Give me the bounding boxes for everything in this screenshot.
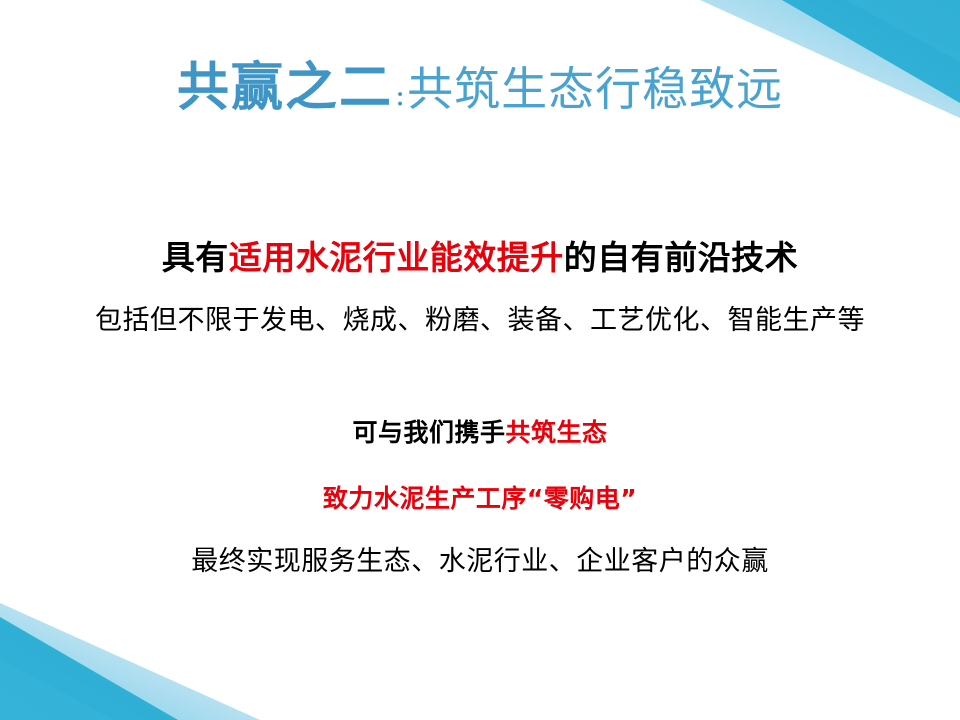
body-line-4: 致力水泥生产工序“零购电” — [0, 482, 960, 516]
title-main-text: 共赢之二 — [177, 58, 393, 118]
diagonal-ribbon-bottom-left-icon — [0, 585, 300, 720]
body-block-lower: 可与我们携手共筑生态 致力水泥生产工序“零购电” 最终实现服务生态、水泥行业、企… — [0, 416, 960, 580]
body-line-1: 具有适用水泥行业能效提升的自有前沿技术 — [0, 236, 960, 280]
body-line-3: 可与我们携手共筑生态 — [0, 416, 960, 450]
page-title: 共赢之二:共筑生态行稳致远 — [0, 62, 960, 114]
body-line-1-prefix: 具有 — [162, 238, 229, 277]
body-line-1-highlight: 适用水泥行业能效提升 — [229, 238, 564, 277]
body-line-3-prefix: 可与我们携手 — [352, 418, 505, 447]
body-line-3-highlight: 共筑生态 — [506, 418, 608, 447]
title-separator: : — [393, 78, 407, 113]
title-subtitle-text: 共筑生态行稳致远 — [407, 62, 783, 116]
body-block-upper: 具有适用水泥行业能效提升的自有前沿技术 包括但不限于发电、烧成、粉磨、装备、工艺… — [0, 236, 960, 340]
slide-canvas: 共赢之二:共筑生态行稳致远 具有适用水泥行业能效提升的自有前沿技术 包括但不限于… — [0, 0, 960, 720]
body-line-1-suffix: 的自有前沿技术 — [564, 238, 799, 277]
body-line-5: 最终实现服务生态、水泥行业、企业客户的众赢 — [0, 544, 960, 580]
body-line-2: 包括但不限于发电、烧成、粉磨、装备、工艺优化、智能生产等 — [0, 302, 960, 340]
